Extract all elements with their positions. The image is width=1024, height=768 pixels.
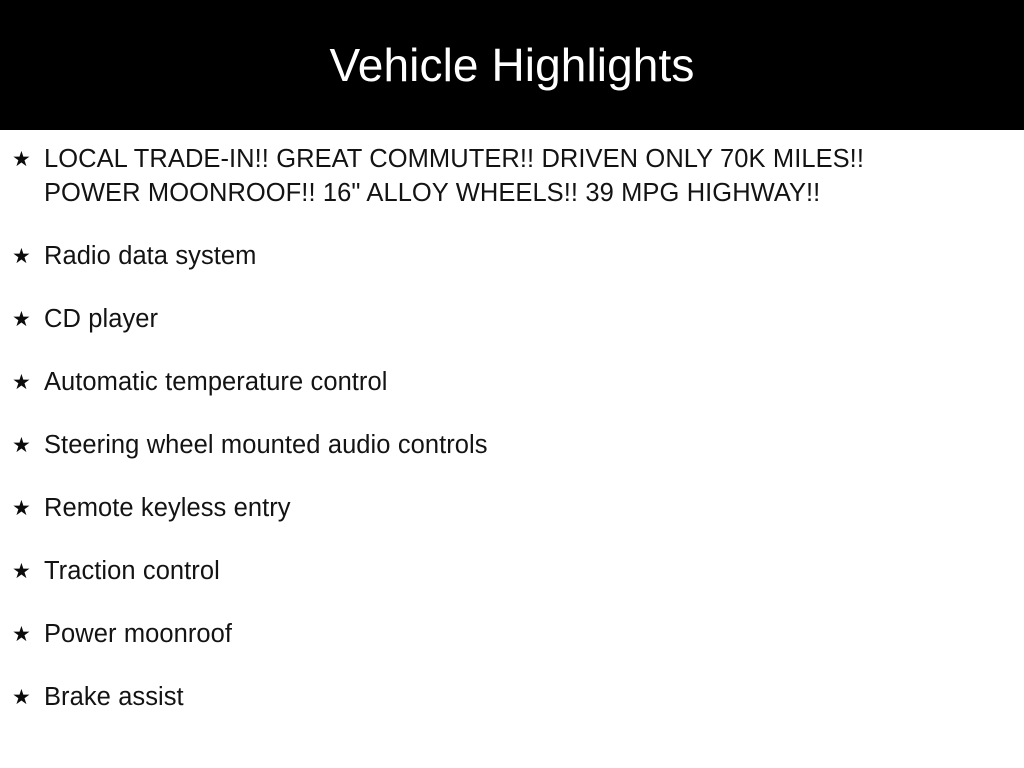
star-bullet-icon: ★ [12,142,44,176]
list-item: ★ CD player [0,302,1024,336]
list-item: ★ Steering wheel mounted audio controls [0,428,1024,462]
list-item-label: Radio data system [44,239,916,273]
star-bullet-icon: ★ [12,617,44,651]
star-bullet-icon: ★ [12,554,44,588]
star-bullet-icon: ★ [12,428,44,462]
list-item-label: Remote keyless entry [44,491,916,525]
list-item: ★ LOCAL TRADE-IN!! GREAT COMMUTER!! DRIV… [0,142,1024,210]
star-bullet-icon: ★ [12,302,44,336]
list-item-label: CD player [44,302,916,336]
list-item: ★ Remote keyless entry [0,491,1024,525]
vehicle-highlights-page: Vehicle Highlights ★ LOCAL TRADE-IN!! GR… [0,0,1024,768]
star-bullet-icon: ★ [12,239,44,273]
list-item-label: Traction control [44,554,916,588]
star-bullet-icon: ★ [12,365,44,399]
list-item: ★ Automatic temperature control [0,365,1024,399]
list-item-label: Automatic temperature control [44,365,916,399]
vehicle-highlights-list: ★ LOCAL TRADE-IN!! GREAT COMMUTER!! DRIV… [0,130,1024,768]
list-item-label: Brake assist [44,680,916,714]
list-item: ★ Radio data system [0,239,1024,273]
star-bullet-icon: ★ [12,491,44,525]
list-item: ★ Power moonroof [0,617,1024,651]
page-title: Vehicle Highlights [330,42,695,88]
star-bullet-icon: ★ [12,680,44,714]
list-item-label: Steering wheel mounted audio controls [44,428,916,462]
list-item: ★ Brake assist [0,680,1024,714]
list-item-label: LOCAL TRADE-IN!! GREAT COMMUTER!! DRIVEN… [44,142,906,210]
page-header: Vehicle Highlights [0,0,1024,130]
list-item-label: Power moonroof [44,617,916,651]
list-item: ★ Traction control [0,554,1024,588]
